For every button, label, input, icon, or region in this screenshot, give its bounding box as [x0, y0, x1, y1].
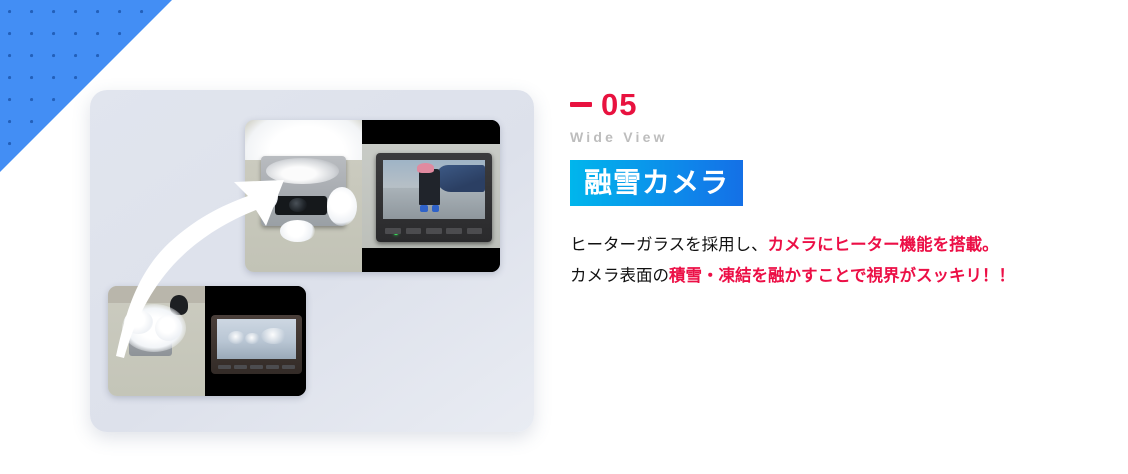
photo-camera-buried-in-snow	[108, 286, 205, 396]
snow-blur-blob	[261, 328, 287, 344]
wall-background	[108, 286, 205, 396]
snow-blur-blob	[228, 331, 246, 344]
monitor-buttons	[218, 363, 294, 371]
snow-clump	[280, 220, 315, 241]
photo-monitor-clear-view	[362, 120, 500, 272]
photo-monitor-obscured-view	[205, 286, 306, 396]
description-line: カメラ表面の積雪・凍結を融かすことで視界がスッキリ！！	[570, 261, 1090, 292]
section-number-value: 05	[601, 89, 637, 120]
section-number: 05	[570, 86, 1090, 122]
snow-clump	[252, 181, 278, 211]
monitor-screen-clear	[383, 160, 485, 218]
photo-card	[90, 90, 534, 432]
monitor-body	[211, 315, 302, 374]
description-block: ヒーターガラスを採用し、カメラにヒーター機能を搭載。 カメラ表面の積雪・凍結を融…	[570, 230, 1090, 291]
description-plain: ヒーターガラスを採用し、	[570, 236, 768, 254]
wall-background	[245, 120, 362, 272]
monitor-scene	[205, 286, 306, 396]
description-highlight: カメラにヒーター機能を搭載。	[768, 236, 999, 254]
monitor-body	[376, 153, 492, 241]
dash-icon	[570, 102, 592, 107]
person-boot	[420, 205, 427, 211]
description-plain: カメラ表面の	[570, 267, 669, 285]
person-hat	[417, 163, 433, 172]
photo-composite-before	[108, 286, 306, 396]
info-column: 05 Wide View 融雪カメラ ヒーターガラスを採用し、カメラにヒーター機…	[570, 86, 1090, 291]
camera-lens	[289, 198, 307, 212]
ceiling-edge	[108, 286, 205, 303]
photo-composite-after	[245, 120, 500, 272]
person-boot	[432, 205, 439, 211]
section-title: 融雪カメラ	[570, 160, 743, 206]
section-subtitle: Wide View	[570, 129, 1090, 145]
person-figure	[419, 169, 439, 205]
snow-clump	[327, 187, 357, 227]
monitor-screen-obscured	[217, 319, 297, 358]
lens-well	[275, 196, 327, 216]
monitor-buttons	[385, 225, 482, 237]
snow-clump	[155, 315, 182, 341]
vehicle-shape	[436, 165, 485, 192]
snow-blur-blob	[245, 333, 259, 344]
monitor-scene	[362, 120, 500, 272]
description-line: ヒーターガラスを採用し、カメラにヒーター機能を搭載。	[570, 230, 1090, 261]
photo-camera-housing-with-light-snow	[245, 120, 362, 272]
snow-clump	[124, 310, 153, 334]
description-highlight: 積雪・凍結を融かすことで視界がスッキリ！！	[669, 267, 1015, 285]
